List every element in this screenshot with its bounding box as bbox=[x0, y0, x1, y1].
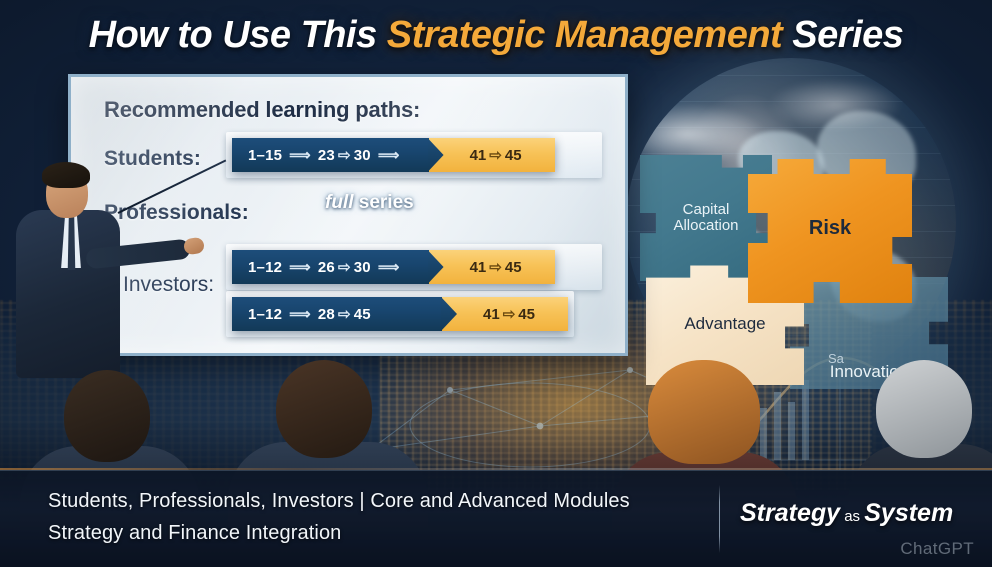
arrow-icon: ⇨ bbox=[338, 258, 351, 276]
path-mid-b-students: 30 bbox=[354, 147, 371, 164]
puzzle-cluster: Capital Allocation Innovation Advantage … bbox=[640, 155, 980, 380]
bottom-banner: Students, Professionals, Investors | Cor… bbox=[0, 470, 992, 567]
arrow-icon: ⇨ bbox=[489, 146, 502, 164]
presenter-hair bbox=[42, 162, 90, 188]
full-series-caption: full series bbox=[325, 192, 414, 214]
full-series-emphasis: full bbox=[325, 192, 354, 213]
puzzle-label-risk: Risk bbox=[809, 218, 851, 239]
puzzle-label-capital-line2: Allocation bbox=[673, 217, 738, 234]
presenter-figure bbox=[6, 160, 156, 375]
puzzle-label-advantage: Advantage bbox=[684, 315, 765, 333]
banner-line-2: Strategy and Finance Integration bbox=[48, 522, 341, 545]
arrow-icon: ⇨ bbox=[503, 305, 516, 323]
arrow-icon: ⟹ bbox=[289, 258, 311, 276]
arrow-icon: ⇨ bbox=[338, 305, 351, 323]
puzzle-label-capital-line1: Capital bbox=[683, 201, 730, 218]
path-mid-b-investors: 45 bbox=[354, 306, 371, 323]
page-title: How to Use This Strategic Management Ser… bbox=[0, 14, 992, 57]
path-adv-a-professionals: 41 bbox=[470, 259, 487, 276]
puzzle-label-faded: Sa bbox=[828, 351, 844, 366]
tagline-connector: as bbox=[840, 508, 864, 525]
title-highlight: Strategic Management bbox=[387, 14, 782, 56]
arrow-icon: ⟹ bbox=[289, 305, 311, 323]
tagline-part-1: Strategy bbox=[740, 499, 840, 527]
arrow-icon: ⟹ bbox=[378, 146, 400, 164]
audience-head bbox=[276, 360, 372, 458]
board-heading: Recommended learning paths: bbox=[104, 97, 420, 123]
banner-divider bbox=[719, 485, 720, 553]
path-bar-students: 1–15 ⟹ 23 ⇨ 30 ⟹ 41 ⇨ 45 bbox=[232, 138, 596, 172]
banner-tagline: Strategy as System bbox=[740, 499, 953, 528]
path-core-segment-students: 1–15 ⟹ 23 ⇨ 30 ⟹ bbox=[232, 138, 429, 172]
arrow-icon: ⟹ bbox=[378, 258, 400, 276]
path-core-range-professionals: 1–12 bbox=[248, 259, 282, 276]
path-advanced-segment-professionals: 41 ⇨ 45 bbox=[429, 250, 555, 284]
path-mid-a-professionals: 26 bbox=[318, 259, 335, 276]
path-bar-investors: 1–12 ⟹ 28 ⇨ 45 41 ⇨ 45 bbox=[232, 297, 568, 331]
infographic-stage: Capital Allocation Innovation Advantage … bbox=[0, 0, 992, 567]
arrow-icon: ⇨ bbox=[489, 258, 502, 276]
path-adv-a-students: 41 bbox=[470, 147, 487, 164]
title-part-2: Series bbox=[782, 14, 903, 56]
path-adv-a-investors: 41 bbox=[483, 306, 500, 323]
audience-head bbox=[64, 370, 150, 462]
watermark-chatgpt: ChatGPT bbox=[900, 539, 974, 559]
audience-head bbox=[648, 360, 760, 464]
path-core-range-investors: 1–12 bbox=[248, 306, 282, 323]
audience-head bbox=[876, 360, 972, 458]
path-bar-professionals: 1–12 ⟹ 26 ⇨ 30 ⟹ 41 ⇨ 45 bbox=[232, 250, 596, 284]
path-adv-b-investors: 45 bbox=[518, 306, 535, 323]
path-mid-a-investors: 28 bbox=[318, 306, 335, 323]
banner-line-1: Students, Professionals, Investors | Cor… bbox=[48, 490, 630, 513]
path-core-range-students: 1–15 bbox=[248, 147, 282, 164]
path-advanced-segment-students: 41 ⇨ 45 bbox=[429, 138, 555, 172]
path-adv-b-professionals: 45 bbox=[505, 259, 522, 276]
path-adv-b-students: 45 bbox=[505, 147, 522, 164]
arrow-icon: ⇨ bbox=[338, 146, 351, 164]
puzzle-piece-risk: Risk bbox=[748, 153, 912, 303]
path-core-segment-investors: 1–12 ⟹ 28 ⇨ 45 bbox=[232, 297, 442, 331]
path-advanced-segment-investors: 41 ⇨ 45 bbox=[442, 297, 568, 331]
arrow-icon: ⟹ bbox=[289, 146, 311, 164]
path-core-segment-professionals: 1–12 ⟹ 26 ⇨ 30 ⟹ bbox=[232, 250, 429, 284]
full-series-rest: series bbox=[354, 192, 414, 213]
tagline-part-2: System bbox=[864, 499, 953, 527]
path-mid-a-students: 23 bbox=[318, 147, 335, 164]
path-mid-b-professionals: 30 bbox=[354, 259, 371, 276]
title-part-1: How to Use This bbox=[89, 14, 387, 56]
